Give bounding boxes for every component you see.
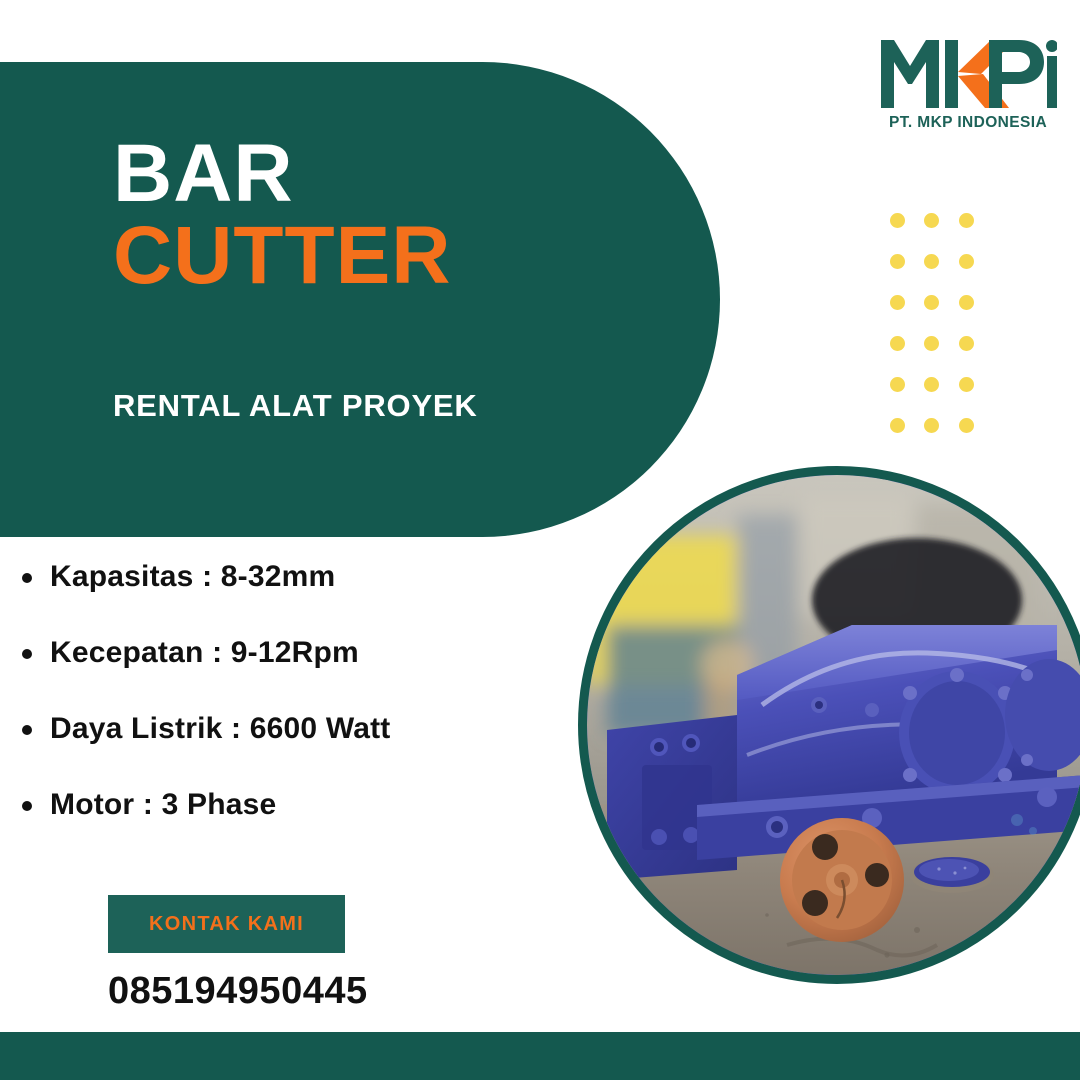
dot: [890, 377, 905, 392]
brand-logo: PT. MKP INDONESIA: [870, 36, 1066, 132]
product-photo-image: [587, 475, 1080, 975]
dot: [890, 418, 905, 433]
dot: [924, 213, 939, 228]
dot: [924, 336, 939, 351]
headline-line-2: CUTTER: [113, 214, 452, 298]
spec-item: Daya Listrik : 6600 Watt: [8, 712, 548, 746]
headline: BAR CUTTER: [113, 134, 452, 297]
dot: [959, 254, 974, 269]
dot: [890, 213, 905, 228]
dot: [959, 213, 974, 228]
footer-strip: [0, 1032, 1080, 1080]
product-photo: [578, 466, 1080, 984]
poster: PT. MKP INDONESIA BAR CUTTER RENTAL ALAT…: [0, 0, 1080, 1080]
dot: [890, 336, 905, 351]
mkpi-logo-icon: [879, 36, 1057, 110]
contact-button[interactable]: KONTAK KAMI: [108, 895, 345, 953]
dot: [959, 418, 974, 433]
dot: [890, 295, 905, 310]
dot-grid-decoration: [880, 200, 984, 446]
spec-item: Kecepatan : 9-12Rpm: [8, 636, 548, 670]
spec-item: Kapasitas : 8-32mm: [8, 560, 548, 594]
phone-number[interactable]: 085194950445: [108, 970, 368, 1013]
headline-subtitle: RENTAL ALAT PROYEK: [113, 388, 478, 424]
spec-item: Motor : 3 Phase: [8, 788, 548, 822]
dot: [924, 418, 939, 433]
dot: [924, 254, 939, 269]
dot: [890, 254, 905, 269]
company-name: PT. MKP INDONESIA: [870, 114, 1066, 132]
dot: [959, 295, 974, 310]
spec-list: Kapasitas : 8-32mm Kecepatan : 9-12Rpm D…: [8, 560, 548, 822]
dot: [924, 377, 939, 392]
headline-line-1: BAR: [113, 134, 452, 214]
dot: [924, 295, 939, 310]
dot: [959, 377, 974, 392]
dot: [959, 336, 974, 351]
contact-button-label: KONTAK KAMI: [149, 913, 304, 936]
